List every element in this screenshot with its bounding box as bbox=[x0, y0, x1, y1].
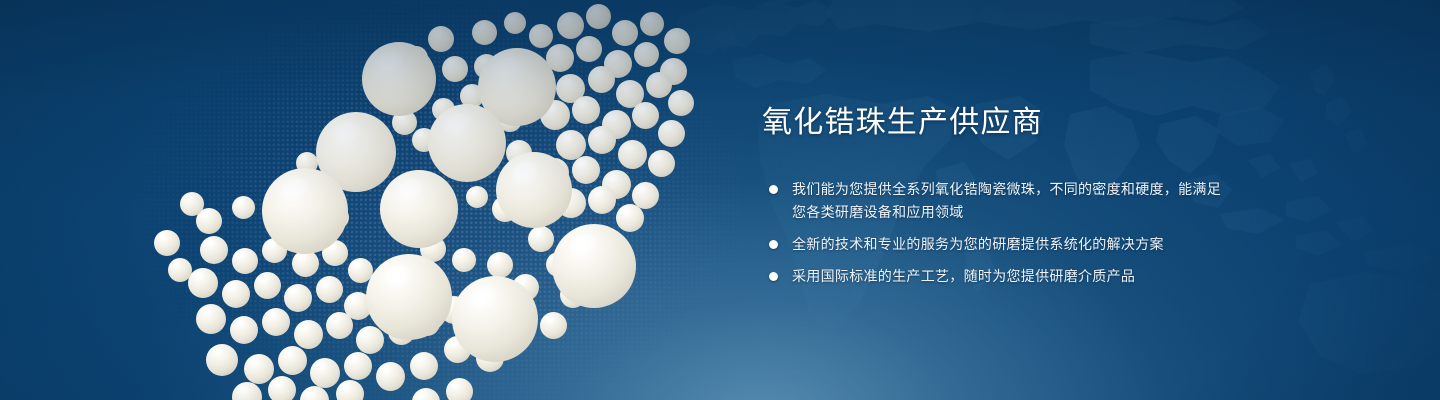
list-item-label: 全新的技术和专业的服务为您的研磨提供系统化的解决方案 bbox=[792, 236, 1164, 252]
banner-copy: 氧化锆珠生产供应商 我们能为您提供全系列氧化锆陶瓷微珠，不同的密度和硬度，能满足… bbox=[762, 104, 1232, 288]
hero-banner: 氧化锆珠生产供应商 我们能为您提供全系列氧化锆陶瓷微珠，不同的密度和硬度，能满足… bbox=[0, 0, 1440, 400]
list-item: 全新的技术和专业的服务为您的研磨提供系统化的解决方案 bbox=[762, 233, 1232, 256]
list-item-label: 采用国际标准的生产工艺，随时为您提供研磨介质产品 bbox=[792, 268, 1135, 284]
list-item: 我们能为您提供全系列氧化锆陶瓷微珠，不同的密度和硬度，能满足您各类研磨设备和应用… bbox=[762, 178, 1232, 224]
bullet-dot-icon bbox=[769, 272, 778, 281]
list-item: 采用国际标准的生产工艺，随时为您提供研磨介质产品 bbox=[762, 265, 1232, 288]
list-item-label: 我们能为您提供全系列氧化锆陶瓷微珠，不同的密度和硬度，能满足您各类研磨设备和应用… bbox=[792, 181, 1221, 220]
bullet-dot-icon bbox=[769, 240, 778, 249]
page-title: 氧化锆珠生产供应商 bbox=[762, 104, 1232, 142]
feature-bullet-list: 我们能为您提供全系列氧化锆陶瓷微珠，不同的密度和硬度，能满足您各类研磨设备和应用… bbox=[762, 178, 1232, 288]
bullet-dot-icon bbox=[769, 185, 778, 194]
